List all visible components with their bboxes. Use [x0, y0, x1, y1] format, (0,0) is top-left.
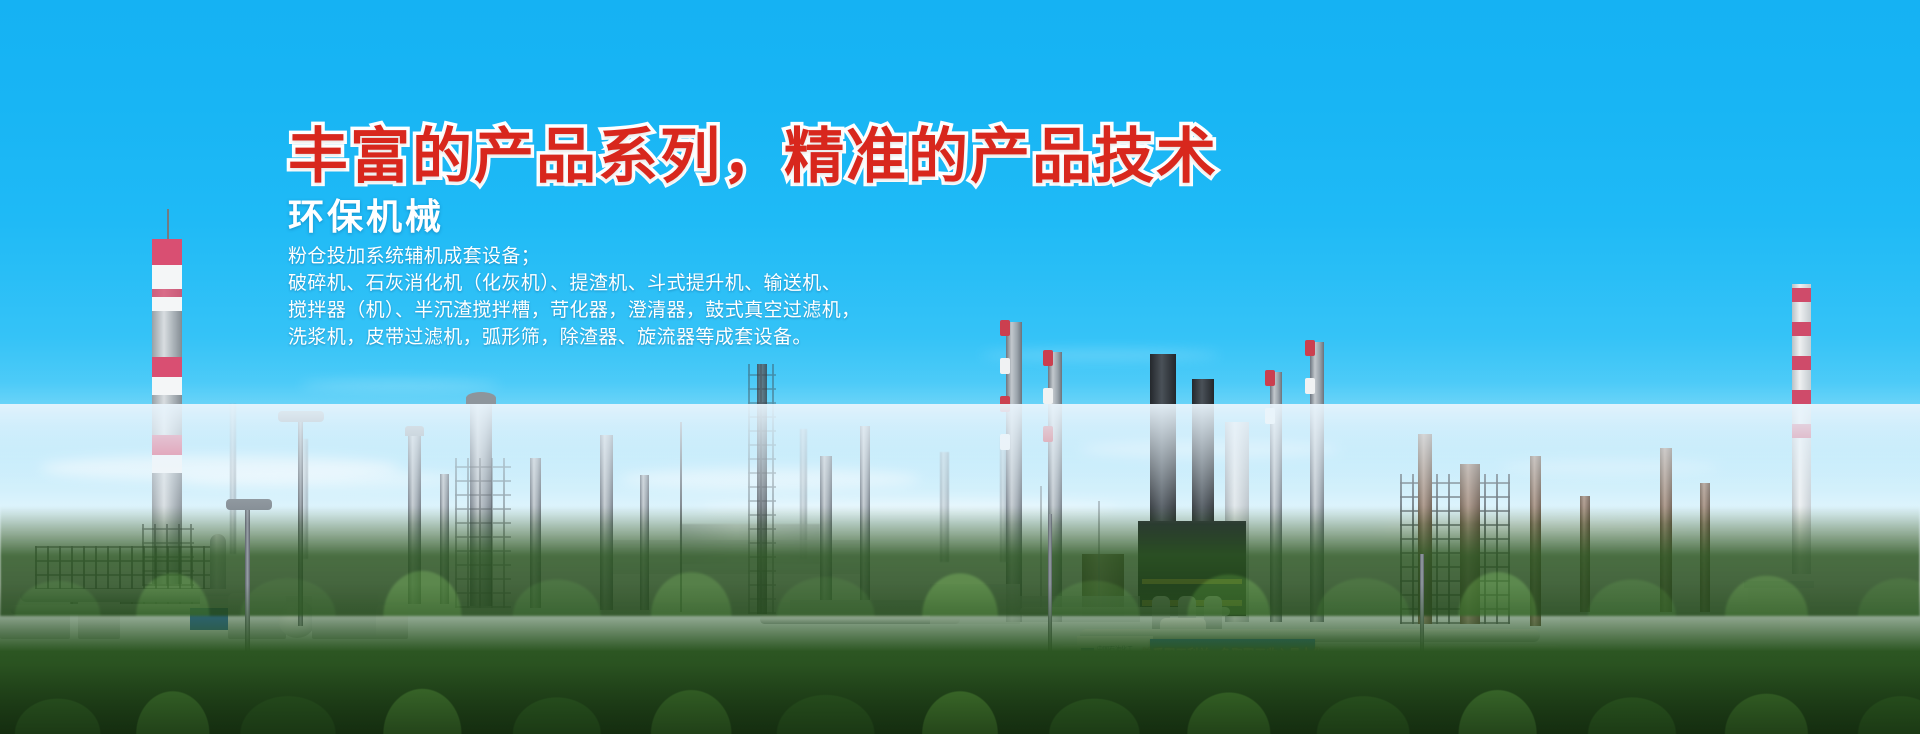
description-block: 粉仓投加系统辅机成套设备； 破碎机、石灰消化机（化灰机）、提渣机、斗式提升机、输…: [288, 243, 861, 351]
description-line-1: 粉仓投加系统辅机成套设备；: [288, 243, 861, 269]
hero-banner: 中国石油化工 SINOPEC 关爱职工利益 争取职工收入最大化 丰富的产品系列，…: [0, 0, 1920, 734]
description-line-4: 洗浆机，皮带过滤机，弧形筛，除渣器、旋流器等成套设备。: [288, 324, 861, 350]
page-title: 丰富的产品系列，精准的产品技术: [288, 108, 1218, 195]
subtitle: 环保机械: [288, 188, 444, 240]
description-line-2: 破碎机、石灰消化机（化灰机）、提渣机、斗式提升机、输送机、: [288, 270, 861, 296]
banner-copy: 丰富的产品系列，精准的产品技术 环保机械 粉仓投加系统辅机成套设备； 破碎机、石…: [0, 0, 1920, 734]
description-line-3: 搅拌器（机）、半沉渣搅拌槽，苛化器，澄清器，鼓式真空过滤机，: [288, 297, 861, 323]
